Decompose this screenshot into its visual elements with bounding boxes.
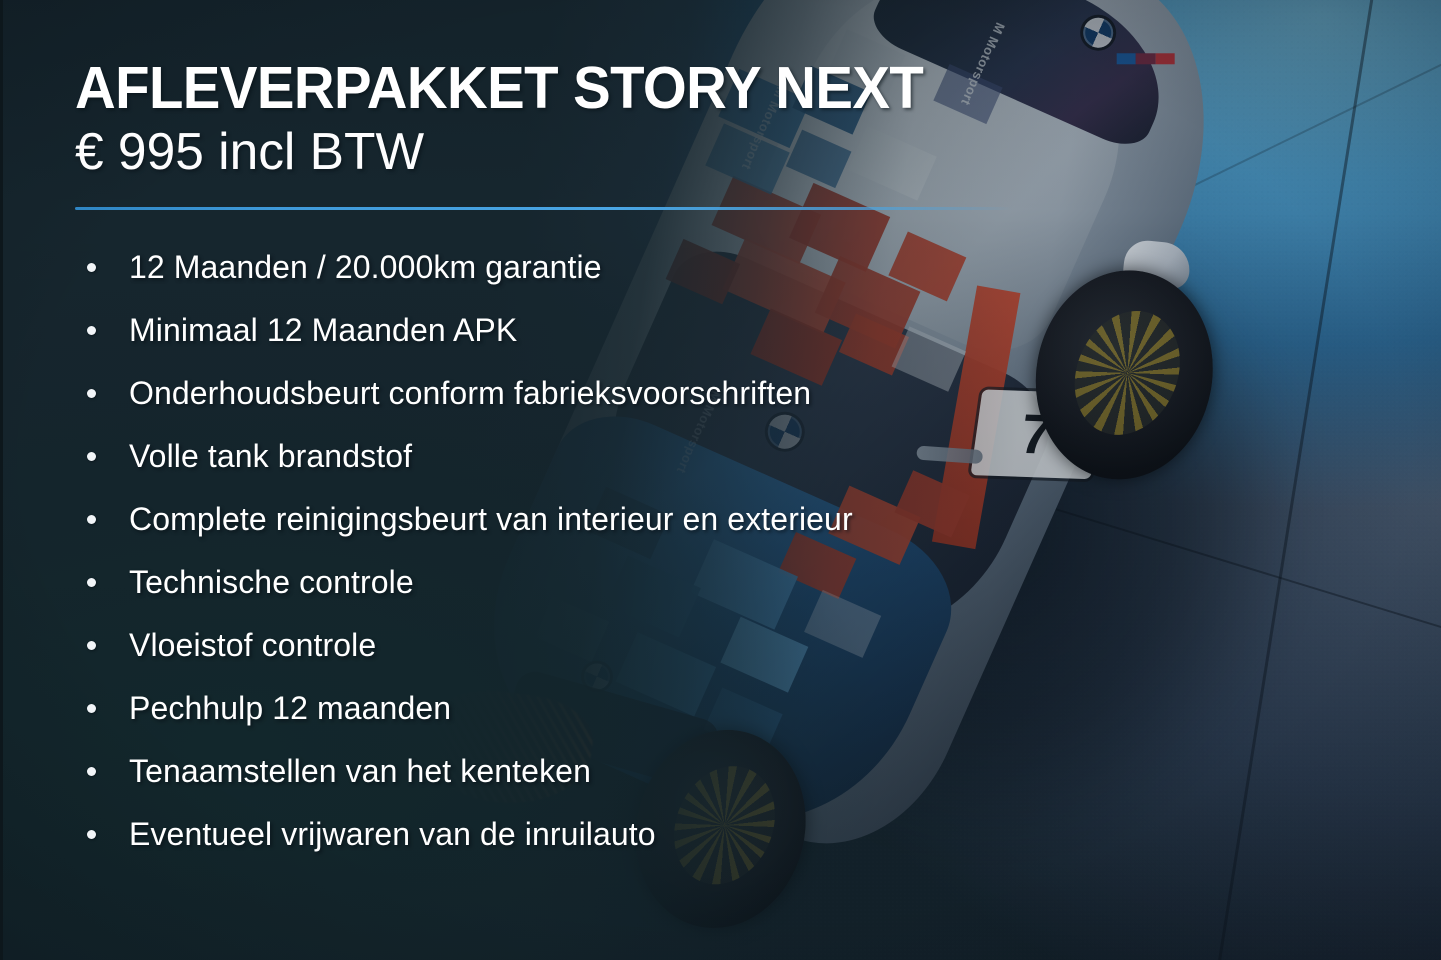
promo-banner: M Motorsport M Motorsport M Motorsport 7… <box>0 0 1441 960</box>
banner-content: AFLEVERPAKKET STORY NEXT € 995 incl BTW … <box>3 0 1441 960</box>
bullet-icon <box>87 263 96 272</box>
bullet-icon <box>87 452 96 461</box>
list-item: Vloeistof controle <box>75 614 1441 677</box>
list-item: Volle tank brandstof <box>75 425 1441 488</box>
list-item: Pechhulp 12 maanden <box>75 677 1441 740</box>
bullet-icon <box>87 515 96 524</box>
list-item-label: 12 Maanden / 20.000km garantie <box>129 249 602 286</box>
divider <box>75 207 1013 210</box>
list-item: Technische controle <box>75 551 1441 614</box>
bullet-icon <box>87 389 96 398</box>
list-item: Minimaal 12 Maanden APK <box>75 299 1441 362</box>
bullet-icon <box>87 767 96 776</box>
list-item-label: Pechhulp 12 maanden <box>129 690 451 727</box>
list-item: 12 Maanden / 20.000km garantie <box>75 236 1441 299</box>
bullet-icon <box>87 578 96 587</box>
list-item-label: Complete reinigingsbeurt van interieur e… <box>129 501 853 538</box>
list-item: Complete reinigingsbeurt van interieur e… <box>75 488 1441 551</box>
list-item: Eventueel vrijwaren van de inruilauto <box>75 803 1441 866</box>
list-item-label: Minimaal 12 Maanden APK <box>129 312 517 349</box>
list-item-label: Vloeistof controle <box>129 627 376 664</box>
bullet-icon <box>87 641 96 650</box>
price-text: € 995 incl BTW <box>75 125 1427 180</box>
feature-list: 12 Maanden / 20.000km garantie Minimaal … <box>75 236 1441 866</box>
page-title: AFLEVERPAKKET STORY NEXT <box>75 58 1380 119</box>
list-item-label: Onderhoudsbeurt conform fabrieksvoorschr… <box>129 375 811 412</box>
list-item-label: Volle tank brandstof <box>129 438 412 475</box>
list-item-label: Eventueel vrijwaren van de inruilauto <box>129 816 656 853</box>
bullet-icon <box>87 704 96 713</box>
list-item: Onderhoudsbeurt conform fabrieksvoorschr… <box>75 362 1441 425</box>
list-item: Tenaamstellen van het kenteken <box>75 740 1441 803</box>
bullet-icon <box>87 326 96 335</box>
list-item-label: Technische controle <box>129 564 414 601</box>
bullet-icon <box>87 830 96 839</box>
list-item-label: Tenaamstellen van het kenteken <box>129 753 591 790</box>
